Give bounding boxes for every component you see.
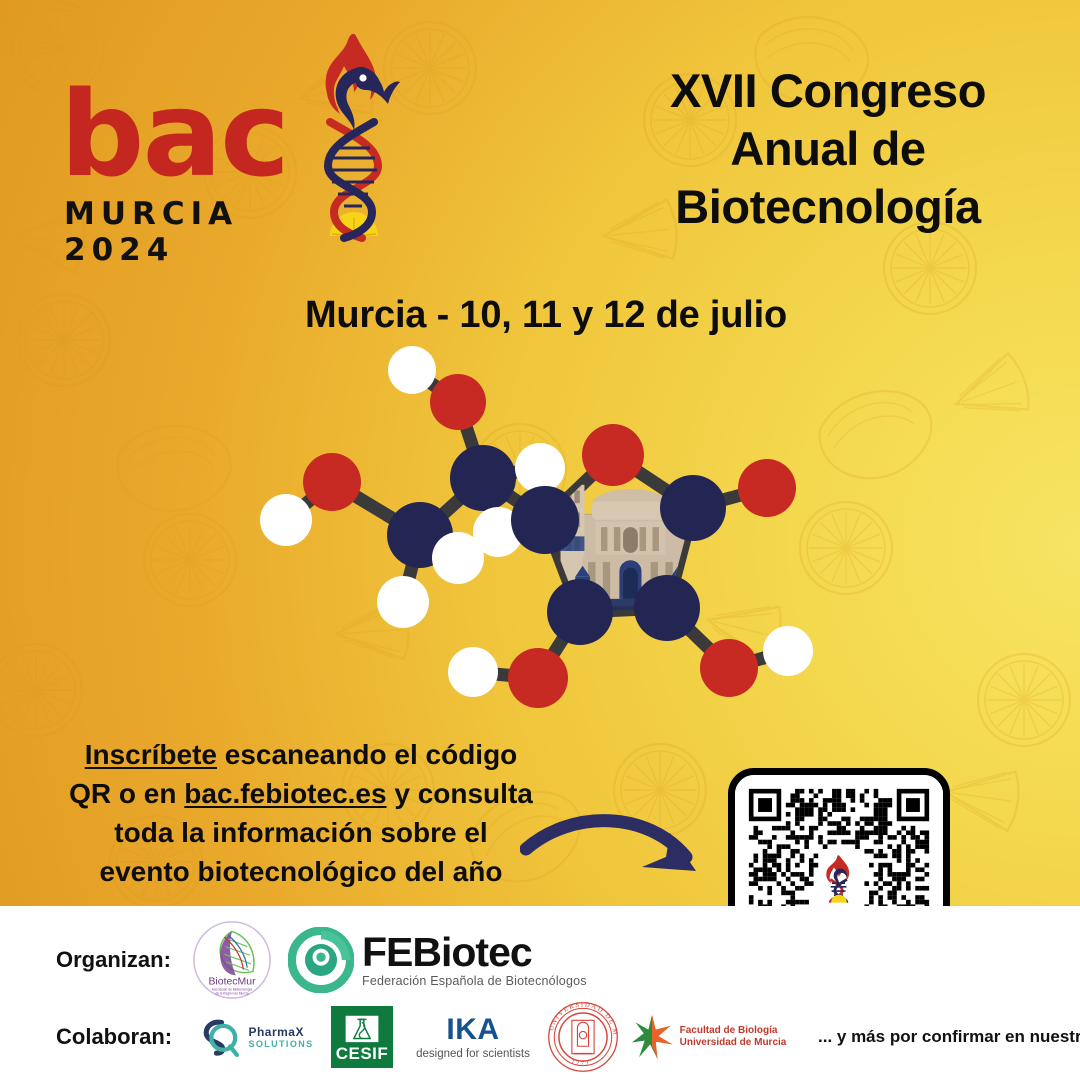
bac-logo-word: bac [60,78,310,190]
molecule-atom-white [448,647,498,697]
organizers-row: Organizan: BiotecMur Asocia [0,922,1080,998]
febiotec-logo-text: FEBiotec [362,932,587,972]
bac-logo-subtitle: MURCIA 2024 [64,196,310,268]
title-line-2: Anual de [618,120,1038,178]
cesif-logo-text: CESIF [336,1044,389,1064]
flame-dna-fish-emblem-icon [300,30,408,258]
reg-line-2-rest: y consulta [387,778,533,809]
ika-logo-text: IKA [446,1015,499,1045]
facultad-de-biologia-logo[interactable]: Facultad de Biología Universidad de Murc… [624,1013,792,1061]
title-line-3: Biotecnología [618,178,1038,236]
qr-center-emblem-icon [823,854,855,905]
reg-line-1: Inscríbete escaneando el código [46,735,556,774]
more-partners-text: ... y más por confirmar en nuestra web [818,1027,1080,1047]
molecule-atom-white [388,346,436,394]
pharmax-solutions-logo[interactable]: PharmaX SOLUTIONS [190,1014,320,1060]
curved-arrow-to-qr-icon [520,805,730,905]
facultad-biologia-text: Facultad de Biología [680,1025,787,1037]
svg-text:de la Región de Murcia: de la Región de Murcia [215,991,248,995]
universidad-de-murcia-logo[interactable]: UNIVERSIDAD DE MURCIA 1272 [542,1000,624,1074]
universidad-de-murcia-seal-icon: UNIVERSIDAD DE MURCIA 1272 [546,1000,620,1074]
pharmax-logo-subtitle: SOLUTIONS [248,1039,313,1049]
febiotec-logo-subtitle: Federación Española de Biotecnólogos [362,974,587,988]
febiotec-mark-icon [288,927,354,993]
molecule-atom-red [738,459,796,517]
reg-line-2-pre: QR o en [69,778,184,809]
molecule-atom-navy [450,445,516,511]
cesif-mark-icon: CESIF [331,1006,393,1068]
pharmax-mark-icon [196,1014,242,1060]
cesif-flask-icon [342,1013,382,1044]
facultad-biologia-subtitle: Universidad de Murcia [680,1037,787,1049]
poster-root: bac MURCIA 2024 [0,0,1080,1080]
molecule-atom-navy [511,486,579,554]
molecule-atom-red [303,453,361,511]
inscribete-link[interactable]: Inscríbete [85,739,217,770]
molecule-atom-red [508,648,568,708]
bac-logo: bac MURCIA 2024 [60,78,310,238]
biotecmur-logo-text: BiotecMur [208,977,256,988]
facultad-biologia-mark-icon [630,1013,674,1061]
biotecmur-logo[interactable]: BiotecMur Asociación de Biotecnología de… [190,920,274,1000]
molecule-atom-white [260,494,312,546]
biomolecule-diagram [255,330,835,710]
molecule-atom-navy [660,475,726,541]
pharmax-logo-text: PharmaX [248,1026,313,1039]
reg-line-2: QR o en bac.febiotec.es y consulta [46,774,556,813]
reg-line-4: evento biotecnológico del año [46,852,556,891]
collaborators-label: Colaboran: [0,1024,190,1050]
molecule-atom-white [763,626,813,676]
ika-logo[interactable]: IKA designed for scientists [404,1015,542,1060]
collaborators-row: Colaboran: PharmaX SOLUTIONS [0,1004,1080,1070]
reg-line-3: toda la información sobre el [46,813,556,852]
febiotec-logo[interactable]: FEBiotec Federación Española de Biotecnó… [288,927,587,993]
molecule-atoms [260,346,813,708]
organizers-label: Organizan: [0,947,190,973]
title-line-1: XVII Congreso [618,62,1038,120]
footer: Organizan: BiotecMur Asocia [0,906,1080,1080]
molecule-atom-white [377,576,429,628]
poster-title: XVII Congreso Anual de Biotecnología [618,62,1038,236]
molecule-atom-navy [634,575,700,641]
cesif-logo[interactable]: CESIF [320,1006,404,1068]
molecule-atom-red [430,374,486,430]
molecule-atom-white [515,443,565,493]
molecule-atom-navy [547,579,613,645]
website-link[interactable]: bac.febiotec.es [184,778,386,809]
registration-text: Inscríbete escaneando el código QR o en … [46,735,556,891]
molecule-atom-red [700,639,758,697]
ika-logo-subtitle: designed for scientists [416,1048,530,1060]
biotecmur-logo-icon: BiotecMur Asociación de Biotecnología de… [192,920,272,1000]
um-seal-text: UNIVERSIDAD DE MURCIA [546,1000,619,1036]
um-seal-year: 1272 [570,1058,591,1067]
reg-line-1-rest: escaneando el código [217,739,517,770]
molecule-atom-red [582,424,644,486]
